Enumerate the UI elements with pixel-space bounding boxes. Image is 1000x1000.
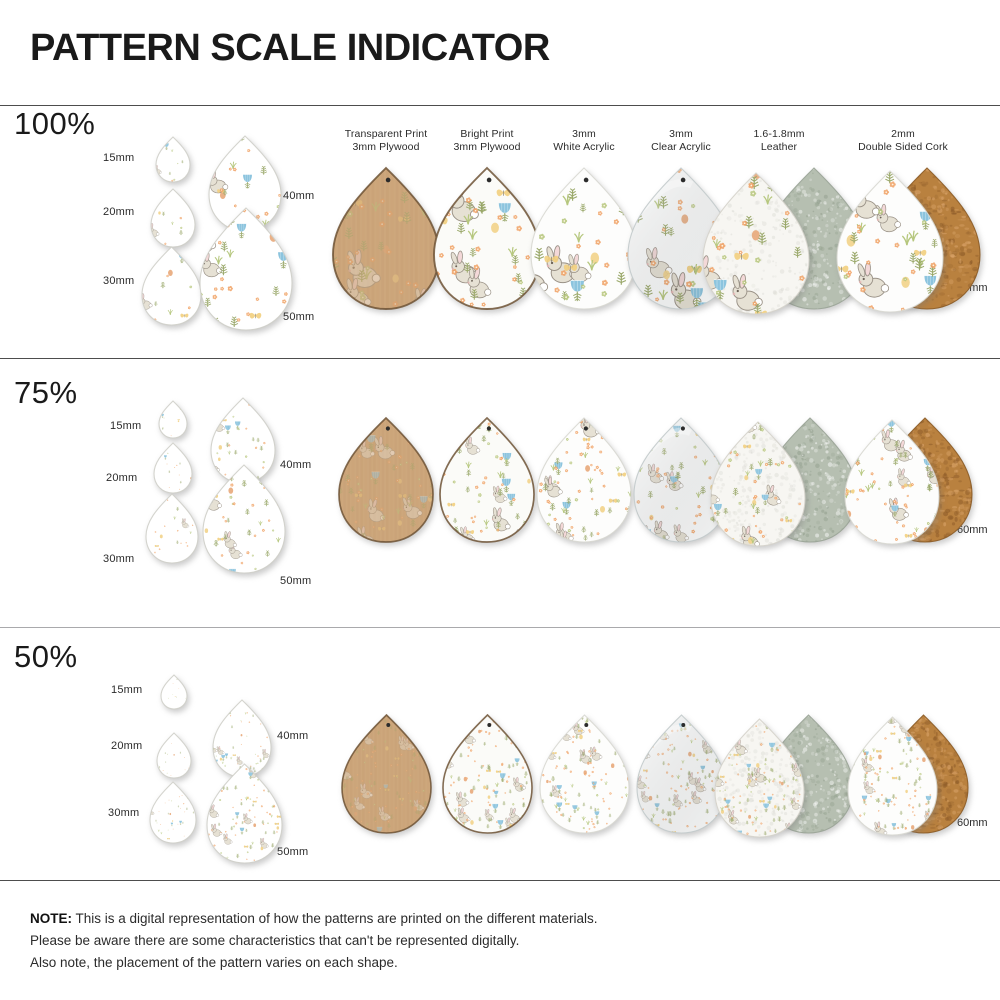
size-label-20mm: 20mm	[103, 206, 134, 218]
sample-drop-15mm	[156, 137, 190, 182]
size-label-30mm: 30mm	[103, 275, 134, 287]
material-drop-leather-16-18mm	[703, 173, 809, 314]
scale-row-50: 50%	[0, 627, 1000, 880]
material-drop-white-acrylic-3mm	[540, 715, 629, 833]
material-drop-double-sided-cork-2mm	[845, 420, 939, 544]
material-drop-leather-16-18mm	[715, 719, 804, 837]
scale-row-75: 75%	[0, 358, 1000, 627]
size-label-50mm: 50mm	[283, 311, 314, 323]
footer-note: NOTE: This is a digital representation o…	[30, 908, 930, 974]
note-line-1: This is a digital representation of how …	[76, 911, 598, 926]
material-drop-double-sided-cork-2mm	[837, 171, 943, 312]
size-label-15mm: 15mm	[110, 420, 141, 432]
sample-drop-20mm	[154, 443, 192, 493]
sample-drop-30mm	[142, 247, 201, 325]
material-drop-bright-print-plywood	[443, 715, 532, 833]
scale-percent-label-scale-100: 100%	[14, 106, 95, 142]
size-label-40mm: 40mm	[277, 730, 308, 742]
size-label-40mm: 40mm	[280, 459, 311, 471]
material-drop-clear-acrylic-3mm	[637, 715, 726, 833]
scale-percent-label-scale-50: 50%	[14, 639, 78, 675]
material-drop-double-sided-cork-2mm	[848, 717, 937, 835]
size-label-15mm: 15mm	[103, 152, 134, 164]
sample-drop-50mm	[207, 764, 282, 863]
material-drop-transparent-print-plywood	[333, 168, 439, 309]
size-label-40mm: 40mm	[283, 190, 314, 202]
sample-drop-30mm	[146, 494, 198, 563]
size-label-30mm: 30mm	[108, 807, 139, 819]
material-drop-transparent-print-plywood	[342, 715, 431, 833]
size-label-20mm: 20mm	[106, 472, 137, 484]
size-label-15mm: 15mm	[111, 684, 142, 696]
material-drop-bright-print-plywood	[440, 418, 534, 542]
note-label: NOTE:	[30, 911, 72, 926]
sample-drop-50mm	[200, 208, 292, 330]
material-drop-white-acrylic-3mm	[537, 418, 631, 542]
material-drop-leather-16-18mm	[711, 422, 805, 546]
material-drop-transparent-print-plywood	[339, 418, 433, 542]
scale-percent-label-scale-75: 75%	[14, 375, 78, 411]
scale-row-100: 100%	[0, 105, 1000, 358]
divider-note	[0, 880, 1000, 881]
sample-drop-50mm	[203, 465, 285, 573]
size-label-20mm: 20mm	[111, 740, 142, 752]
size-label-50mm: 50mm	[280, 575, 311, 587]
sample-drop-30mm	[150, 782, 196, 843]
page-title: PATTERN SCALE INDICATOR	[30, 27, 550, 70]
sample-drop-20mm	[157, 733, 191, 778]
size-label-30mm: 30mm	[103, 553, 134, 565]
note-line-2: Please be aware there are some character…	[30, 930, 930, 952]
sample-drop-15mm	[161, 675, 187, 709]
size-label-50mm: 50mm	[277, 846, 308, 858]
sample-drop-20mm	[151, 189, 195, 247]
sample-drop-15mm	[159, 401, 187, 438]
material-drop-white-acrylic-3mm	[531, 168, 637, 309]
material-drop-bright-print-plywood	[434, 168, 540, 309]
note-line-3: Also note, the placement of the pattern …	[30, 952, 930, 974]
